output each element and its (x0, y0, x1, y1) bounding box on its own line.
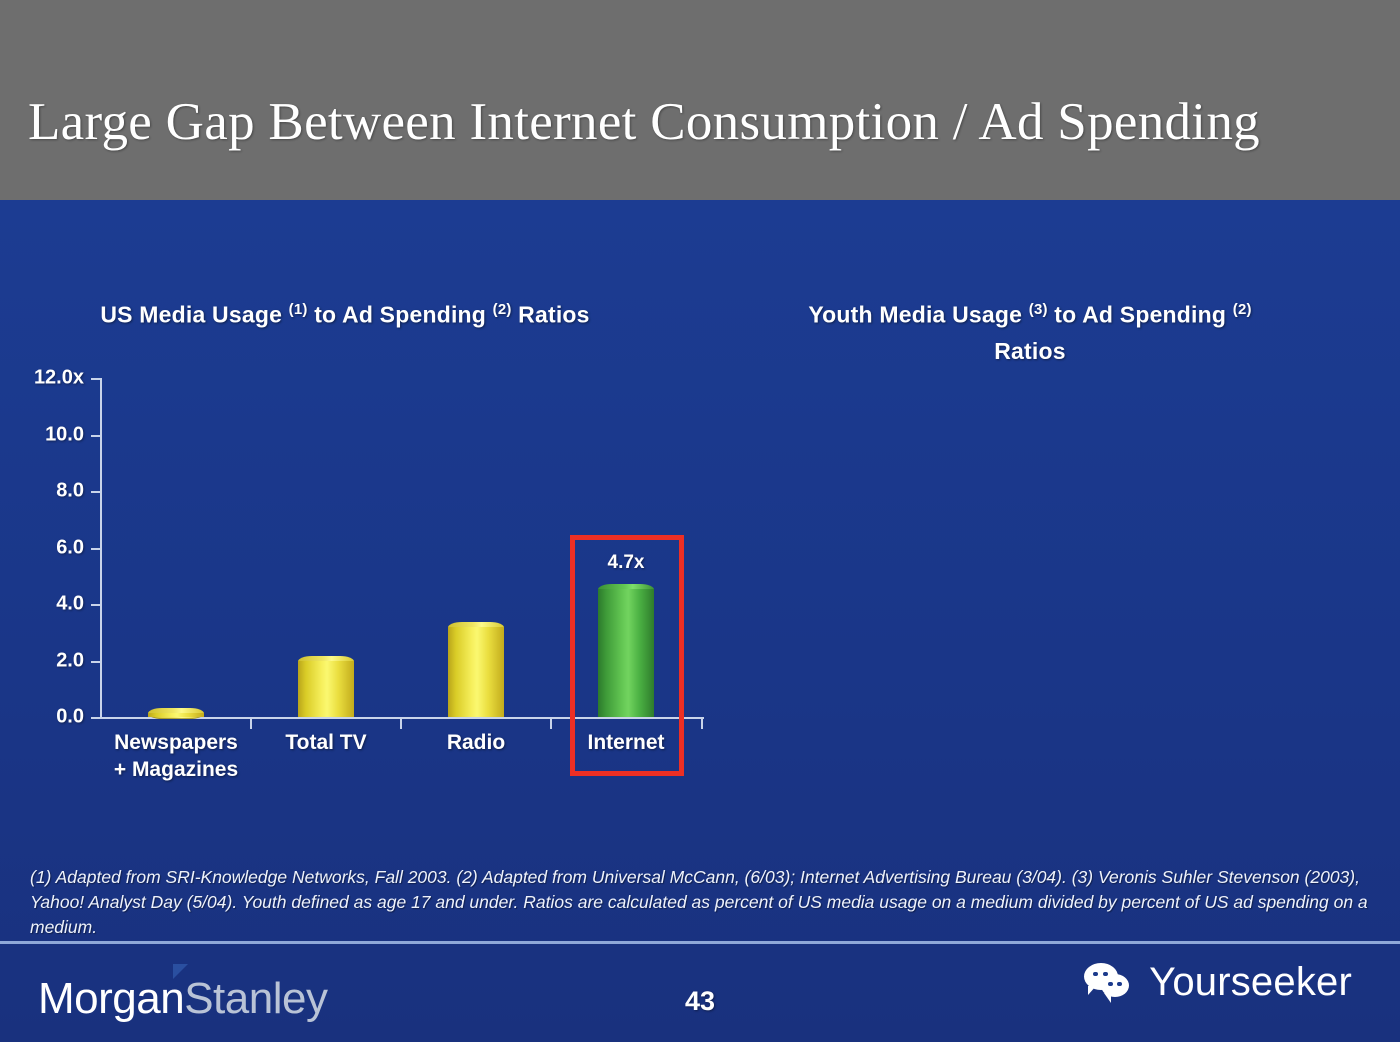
chart-title-footnote-ref-2: (2) (493, 301, 512, 318)
chart-title-youth-media: Youth Media Usage (3) to Ad Spending (2)… (720, 292, 1340, 369)
y-tick-label-8: 8.0 (56, 480, 84, 503)
x-category-label-total-tv: Total TV (285, 729, 366, 756)
wechat-eye-1 (1093, 972, 1098, 977)
chart-title-footnote-ref-2: (2) (1233, 301, 1252, 318)
chart-title-mid: to Ad Spending (1054, 302, 1232, 328)
x-tick-4 (701, 717, 703, 729)
y-tick-label-6: 6.0 (56, 536, 84, 559)
y-tick-label-10: 10.0 (45, 423, 84, 446)
x-category-label-newspapers-magazines: Newspapers + Magazines (114, 729, 238, 783)
footnote-text: (1) Adapted from SRI-Knowledge Networks,… (30, 865, 1370, 940)
chart-title-main: US Media Usage (100, 302, 282, 328)
category-line-1: Newspapers (114, 729, 238, 756)
y-tick-6 (91, 548, 100, 550)
y-tick-label-0: 0.0 (56, 706, 84, 729)
y-tick-8 (91, 491, 100, 493)
wechat-tail-back (1088, 986, 1096, 995)
wechat-eye-3 (1108, 982, 1113, 987)
chart-title-tail: Ratios (994, 338, 1066, 364)
slide-title-band: Large Gap Between Internet Consumption /… (0, 0, 1400, 200)
bar-newspapers-magazines (148, 708, 204, 717)
highlight-box-internet-us (570, 535, 684, 776)
wechat-eye-4 (1117, 982, 1122, 987)
wechat-eye-2 (1103, 972, 1108, 977)
bar-body (448, 627, 504, 717)
chart-panel-youth-media: Youth Media Usage (3) to Ad Spending (2)… (710, 200, 1400, 820)
chart-title-us-media: US Media Usage (1) to Ad Spending (2) Ra… (0, 292, 700, 333)
morgan-stanley-triangle-icon (173, 964, 188, 979)
page-title: Large Gap Between Internet Consumption /… (28, 92, 1260, 152)
x-tick-2 (400, 717, 402, 729)
slide-body: US Media Usage (1) to Ad Spending (2) Ra… (0, 200, 1400, 1042)
y-tick-2 (91, 661, 100, 663)
plot-area-us-media: 12.0x 10.0 8.0 6.0 4.0 2.0 0.0 (100, 378, 700, 717)
chart-title-main: Youth Media Usage (808, 302, 1022, 328)
category-line-2: + Magazines (114, 756, 238, 783)
y-tick-label-2: 2.0 (56, 649, 84, 672)
y-tick-10 (91, 435, 100, 437)
wechat-icon (1084, 963, 1136, 1003)
chart-title-footnote-ref-3: (3) (1029, 301, 1048, 318)
x-category-label-radio: Radio (447, 729, 505, 756)
y-axis-line (100, 378, 102, 717)
y-tick-0 (91, 717, 100, 719)
wechat-tail-front (1104, 993, 1111, 1003)
chart-title-footnote-ref-1: (1) (289, 301, 308, 318)
y-tick-label-4: 4.0 (56, 593, 84, 616)
watermark-label: Yourseeker (1149, 960, 1352, 1005)
x-tick-3 (550, 717, 552, 729)
y-tick-12 (91, 378, 100, 380)
y-tick-label-12: 12.0x (34, 367, 84, 390)
chart-panel-us-media: US Media Usage (1) to Ad Spending (2) Ra… (0, 200, 710, 820)
bar-radio (448, 622, 504, 717)
chart-title-mid: to Ad Spending (314, 302, 492, 328)
slide-footer: MorganStanley 43 Yourseeker (0, 944, 1400, 1042)
chart-title-tail: Ratios (512, 302, 590, 328)
x-tick-1 (250, 717, 252, 729)
bar-body (298, 661, 354, 717)
bar-total-tv (298, 656, 354, 717)
yourseeker-watermark: Yourseeker (1084, 960, 1352, 1005)
y-tick-4 (91, 604, 100, 606)
bar-body (148, 713, 204, 717)
